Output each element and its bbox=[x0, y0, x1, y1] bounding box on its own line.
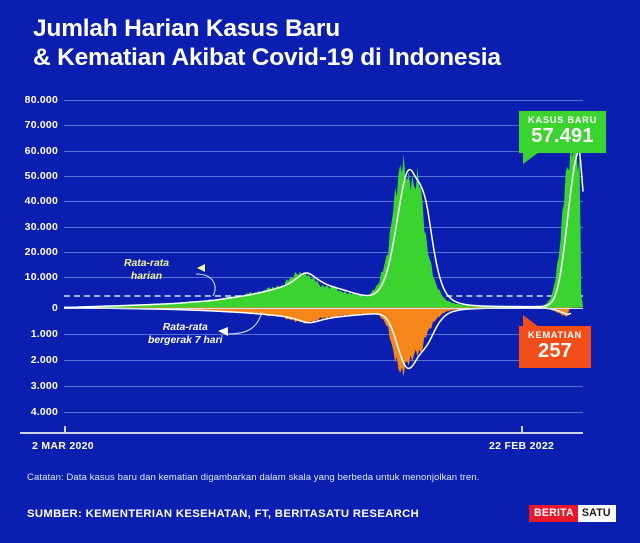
annotation-moving-average-line2: bergerak 7 hari bbox=[148, 335, 223, 346]
logo-satu: SATU bbox=[578, 505, 616, 522]
area-deaths bbox=[64, 308, 583, 377]
callout-new-cases-caption: KASUS BARU bbox=[528, 115, 597, 125]
y-axis-labels: 80.000 70.000 60.000 50.000 40.000 30.00… bbox=[0, 100, 58, 432]
title-line-2: & Kematian Akibat Covid-19 di Indonesia bbox=[33, 43, 613, 72]
annotation-daily-average-line1: Rata-rata bbox=[124, 258, 169, 269]
beritasatu-logo: BERITA SATU bbox=[529, 505, 616, 522]
x-tick-start bbox=[64, 426, 66, 433]
infographic-root: Jumlah Harian Kasus Baru & Kematian Akib… bbox=[0, 0, 640, 543]
zero-baseline bbox=[64, 308, 583, 309]
y-tick-20000: 20.000 bbox=[25, 246, 58, 258]
y-tick-70000: 70.000 bbox=[25, 119, 58, 131]
footnote: Catatan: Data kasus baru dan kematian di… bbox=[27, 472, 617, 483]
page-title: Jumlah Harian Kasus Baru & Kematian Akib… bbox=[33, 14, 613, 72]
logo-berita: BERITA bbox=[529, 505, 578, 522]
y-tick-80000: 80.000 bbox=[25, 94, 58, 106]
callout-deaths-tail bbox=[523, 315, 539, 327]
callout-new-cases-tail bbox=[523, 152, 539, 164]
title-line-1: Jumlah Harian Kasus Baru bbox=[33, 15, 340, 42]
y-tick-60000: 60.000 bbox=[25, 145, 58, 157]
y-tick-0: 0 bbox=[52, 302, 58, 314]
line-moving-average-cases bbox=[64, 150, 583, 307]
y-tick-50000: 50.000 bbox=[25, 170, 58, 182]
callout-new-cases: KASUS BARU 57.491 bbox=[519, 111, 606, 153]
y-tick-deaths-4000: 4.000 bbox=[31, 406, 58, 418]
y-tick-deaths-2000: 2.000 bbox=[31, 354, 58, 366]
callout-deaths: KEMATIAN 257 bbox=[519, 326, 591, 368]
y-tick-30000: 30.000 bbox=[25, 221, 58, 233]
annotation-moving-average: Rata-rata bergerak 7 hari bbox=[148, 322, 223, 347]
annotation-moving-average-line1: Rata-rata bbox=[163, 322, 208, 333]
x-label-start: 2 MAR 2020 bbox=[32, 440, 94, 452]
x-tick-end bbox=[521, 426, 523, 433]
y-tick-deaths-3000: 3.000 bbox=[31, 380, 58, 392]
x-axis-line bbox=[20, 432, 583, 434]
callout-deaths-caption: KEMATIAN bbox=[528, 330, 582, 340]
x-label-end: 22 FEB 2022 bbox=[489, 440, 554, 452]
y-tick-40000: 40.000 bbox=[25, 195, 58, 207]
callout-deaths-value: 257 bbox=[528, 341, 582, 362]
annotation-daily-average: Rata-rata harian bbox=[124, 258, 169, 283]
annotation-daily-average-line2: harian bbox=[131, 271, 162, 282]
y-tick-deaths-1000: 1.000 bbox=[31, 328, 58, 340]
y-tick-10000: 10.000 bbox=[25, 271, 58, 283]
source-line: SUMBER: KEMENTERIAN KESEHATAN, FT, BERIT… bbox=[27, 508, 419, 520]
callout-new-cases-value: 57.491 bbox=[528, 126, 597, 147]
